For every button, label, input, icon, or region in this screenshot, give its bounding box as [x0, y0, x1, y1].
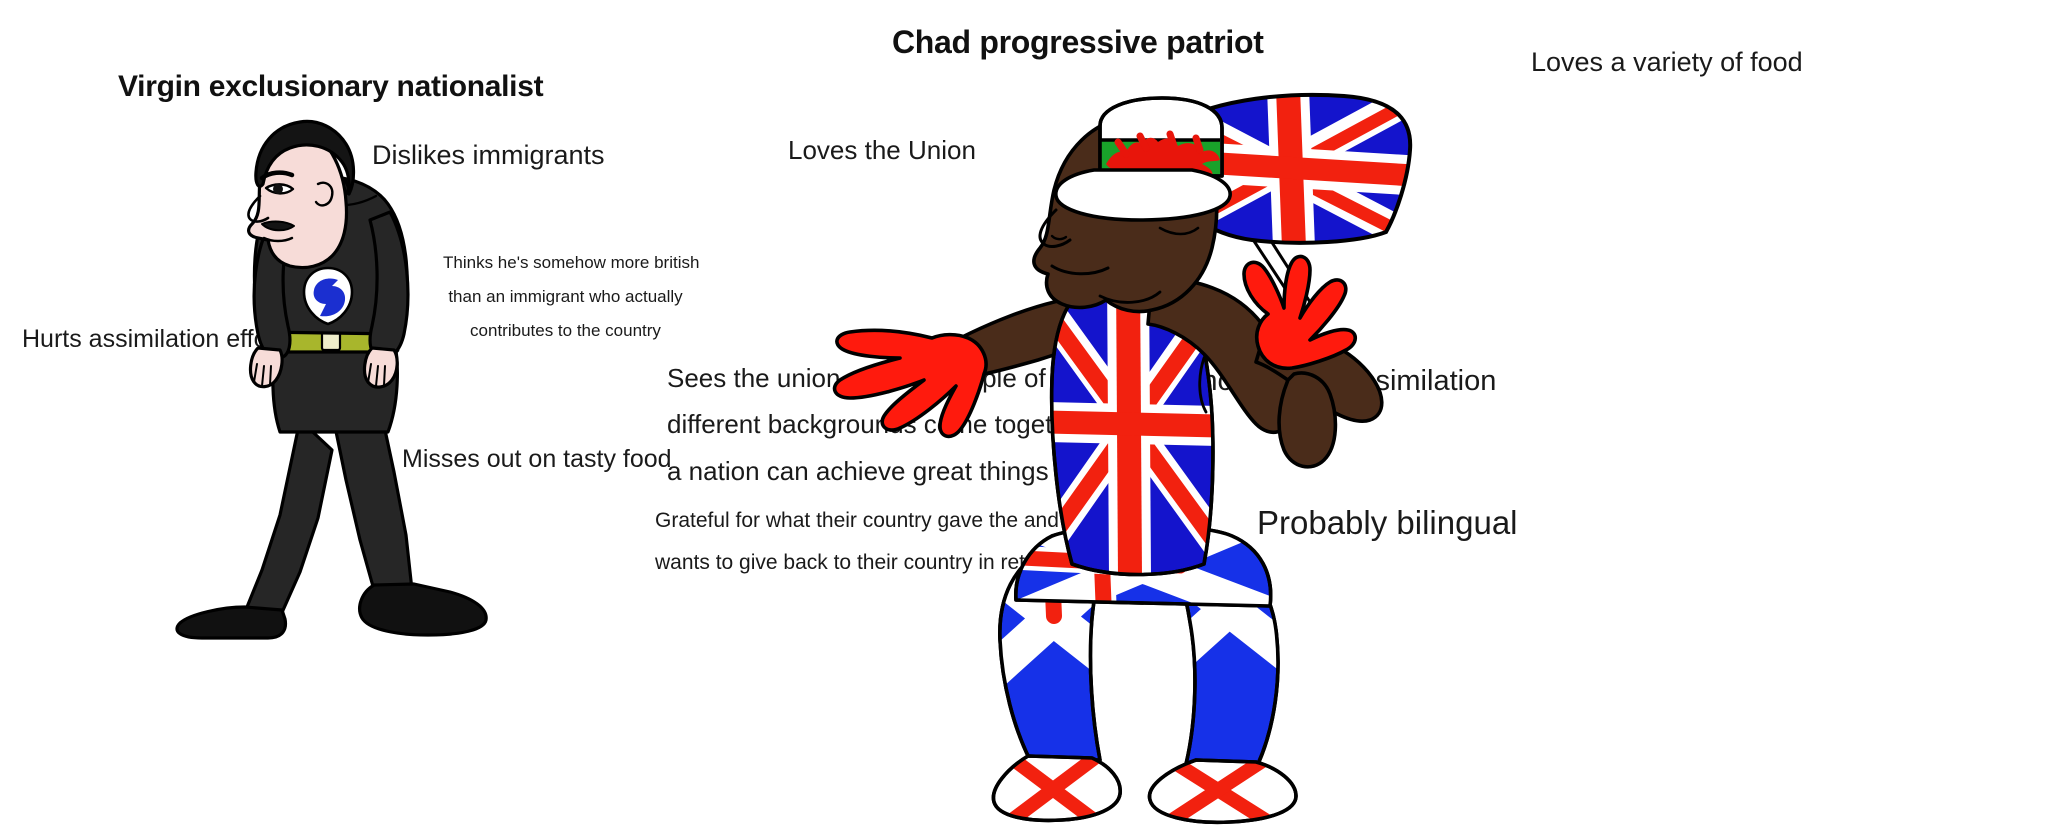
chad-left-shoe	[993, 754, 1120, 826]
meme-canvas: Virgin exclusionary nationalist Dislikes…	[0, 0, 2048, 833]
chad-left-glove	[835, 330, 986, 436]
left-panel-heading: Virgin exclusionary nationalist	[118, 68, 543, 106]
virgin-back-leg	[245, 420, 332, 617]
virgin-nationalist-figure	[150, 120, 510, 640]
virgin-pupil	[273, 184, 283, 194]
chad-patriot-figure	[800, 78, 1480, 833]
virgin-front-shoe	[360, 584, 487, 635]
virgin-front-leg	[332, 412, 412, 590]
right-panel-heading: Chad progressive patriot	[892, 22, 1264, 63]
chad-right-glove	[1244, 256, 1355, 368]
chad-right-shoe	[1150, 756, 1296, 828]
label-loves-variety-of-food: Loves a variety of food	[1531, 45, 1803, 80]
virgin-front-hand	[365, 348, 398, 387]
virgin-back-shoe	[177, 607, 286, 638]
